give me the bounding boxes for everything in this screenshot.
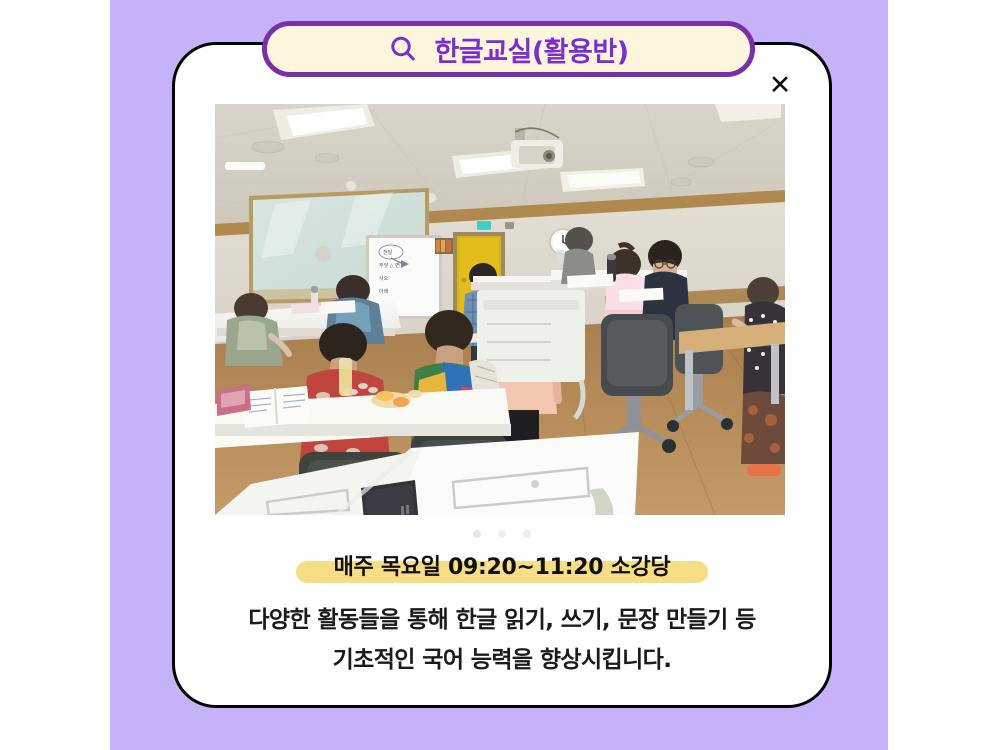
program-title-pill: 한글교실(활용반) <box>262 21 755 77</box>
screenshot-canvas: 한글교실(활용반) ✕ <box>0 0 1000 750</box>
close-button[interactable]: ✕ <box>766 71 794 99</box>
svg-text:전달: 전달 <box>383 249 393 256</box>
description-line-2: 기초적인 국어 능력을 향상시킵니다. <box>182 640 822 680</box>
description-line-1: 다양한 활동들을 통해 한글 읽기, 쓰기, 문장 만들기 등 <box>182 600 822 640</box>
schedule-text: 매주 목요일 09:20~11:20 소강당 <box>320 549 685 581</box>
close-icon: ✕ <box>769 72 792 99</box>
carousel-dot-3[interactable] <box>523 530 531 538</box>
svg-text:무엇 △ 면: 무엇 △ 면 <box>379 262 400 269</box>
search-icon <box>388 34 418 64</box>
carousel-dot-1[interactable] <box>473 530 481 538</box>
carousel-dot-2[interactable] <box>498 530 506 538</box>
program-description: 다양한 활동들을 통해 한글 읽기, 쓰기, 문장 만들기 등 기초적인 국어 … <box>182 600 822 681</box>
carousel-dots[interactable] <box>172 530 832 538</box>
svg-text:아래: 아래 <box>379 288 389 295</box>
svg-text:사오: 사오 <box>379 275 389 282</box>
page-title: 한글교실(활용반) <box>434 30 628 69</box>
carousel-photo[interactable]: 전달 무엇 △ 면 사오 아래 얼 마 <box>215 104 785 515</box>
schedule-row: 매주 목요일 09:20~11:20 소강당 <box>172 549 832 581</box>
